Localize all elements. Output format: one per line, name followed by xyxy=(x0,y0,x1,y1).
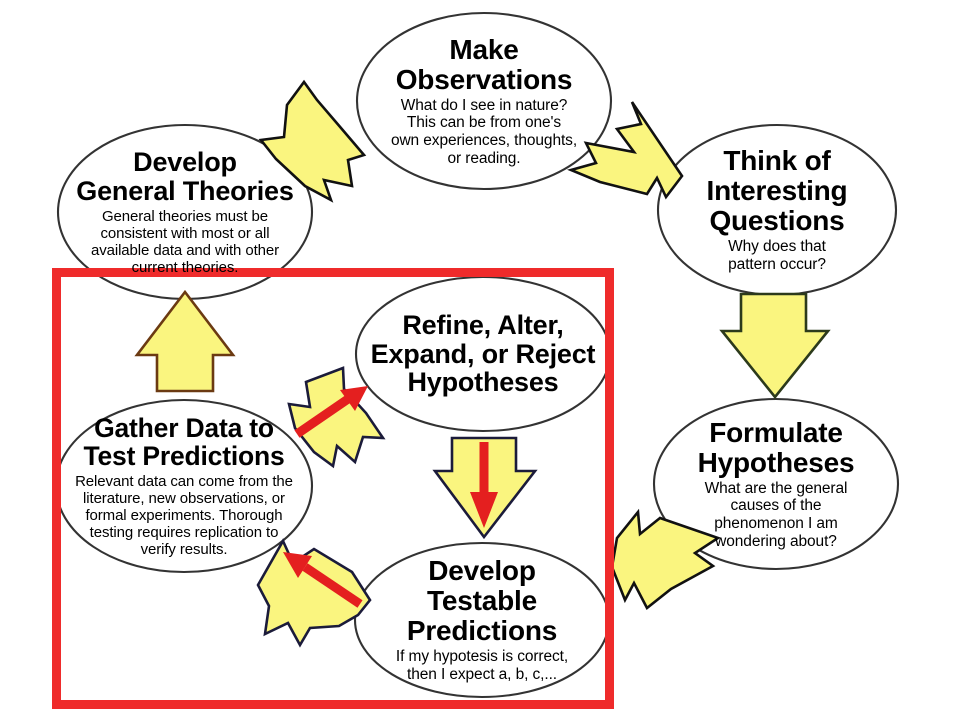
node-develop-general-theories[interactable]: Develop General Theories General theorie… xyxy=(62,132,308,292)
node-body: General theories must be consistent with… xyxy=(91,208,279,276)
node-title: Make Observations xyxy=(396,35,573,95)
node-title: Think of Interesting Questions xyxy=(707,146,848,236)
node-think-of-interesting-questions[interactable]: Think of Interesting Questions Why does … xyxy=(658,134,896,286)
node-formulate-hypotheses[interactable]: Formulate Hypotheses What are the genera… xyxy=(654,404,898,564)
arrow-gather-to-theories[interactable] xyxy=(137,292,233,391)
node-body: What are the general causes of the pheno… xyxy=(705,480,848,551)
node-body: What do I see in nature? This can be fro… xyxy=(391,97,577,168)
node-title: Refine, Alter, Expand, or Reject Hypothe… xyxy=(371,311,596,398)
node-body: If my hypotesis is correct, then I expec… xyxy=(396,648,568,683)
node-title: Gather Data to Test Predictions xyxy=(84,414,285,471)
node-title: Formulate Hypotheses xyxy=(698,418,855,478)
node-refine-alter-expand-reject-hypotheses[interactable]: Refine, Alter, Expand, or Reject Hypothe… xyxy=(356,292,610,416)
node-title: Develop General Theories xyxy=(76,148,293,206)
node-develop-testable-predictions[interactable]: Develop Testable Predictions If my hypot… xyxy=(358,545,606,695)
node-title: Develop Testable Predictions xyxy=(407,556,557,646)
node-body: Why does that pattern occur? xyxy=(728,238,826,273)
node-body: Relevant data can come from the literatu… xyxy=(75,473,293,558)
arrow-questions-to-formulate[interactable] xyxy=(722,294,828,397)
node-gather-data-to-test-predictions[interactable]: Gather Data to Test Predictions Relevant… xyxy=(62,400,306,572)
scientific-method-diagram: .ellipse-shape { fill:#ffffff; stroke:#3… xyxy=(0,0,956,717)
node-make-observations[interactable]: Make Observations What do I see in natur… xyxy=(362,22,606,180)
